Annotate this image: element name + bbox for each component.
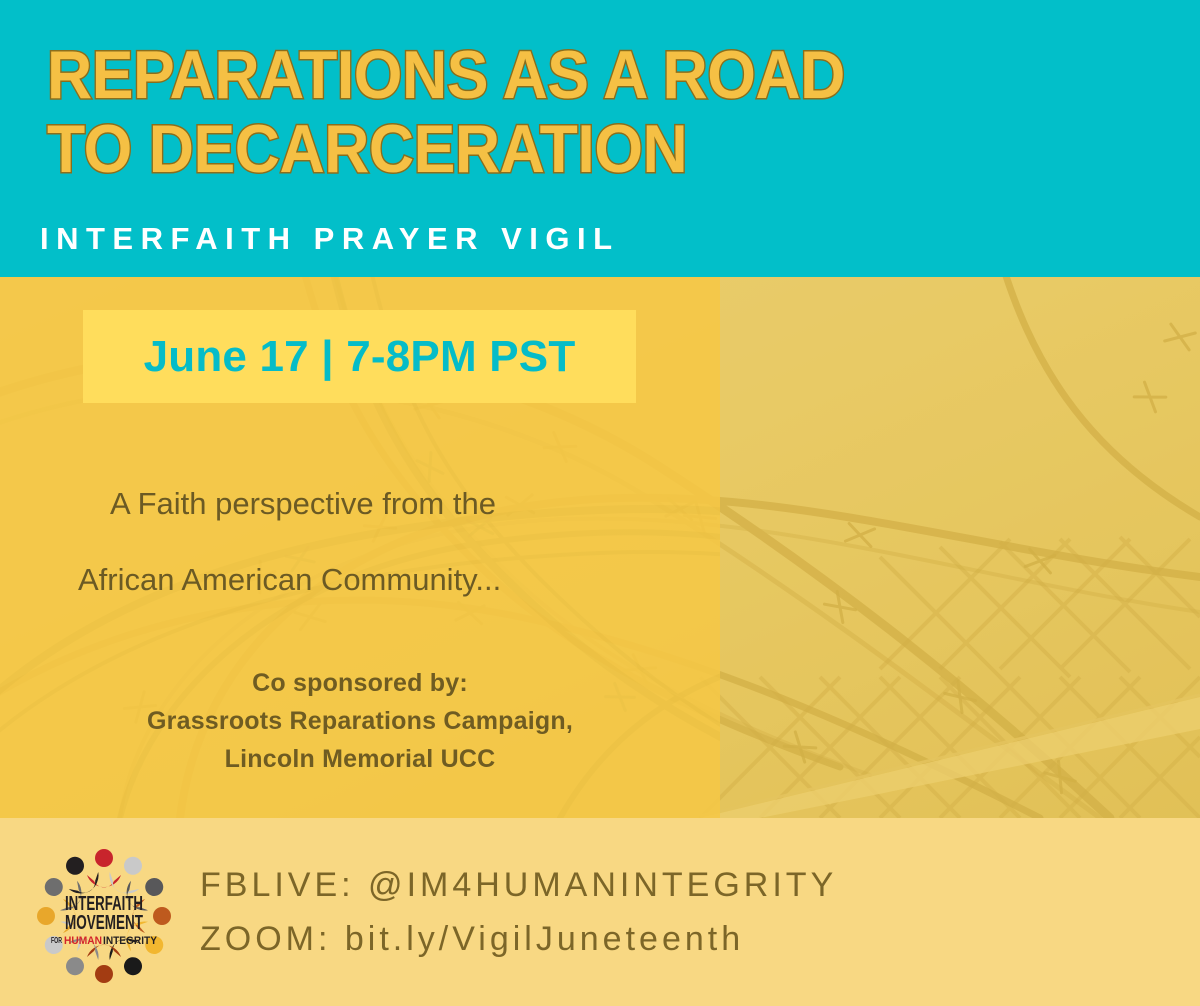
description-line-1: A Faith perspective from the [110,466,710,542]
svg-text:MOVEMENT: MOVEMENT [65,912,143,934]
zoom-link[interactable]: ZOOM: bit.ly/VigilJuneteenth [200,912,837,966]
svg-text:HUMAN: HUMAN [64,935,102,947]
interfaith-movement-logo: INTERFAITH MOVEMENT FOR HUMAN INTEGRITY [24,836,184,996]
svg-text:FOR: FOR [51,936,62,945]
date-time-text: June 17 | 7-8PM PST [144,332,576,382]
description-line-2: African American Community... [78,542,710,618]
page-title: Reparations as a Road to Decarceration [47,38,967,186]
description-block: A Faith perspective from the African Ame… [110,466,710,618]
fblive-link[interactable]: FBLIVE: @IM4HUMANINTEGRITY [200,858,837,912]
page-subtitle: Interfaith Prayer Vigil [40,221,620,257]
event-flyer: Reparations as a Road to Decarceration I… [0,0,1200,1006]
cosponsor-org-1: Grassroots Reparations Campaign, [0,702,720,740]
contact-links-block: FBLIVE: @IM4HUMANINTEGRITY ZOOM: bit.ly/… [200,858,837,966]
cosponsor-block: Co sponsored by: Grassroots Reparations … [0,664,720,778]
cosponsor-org-2: Lincoln Memorial UCC [0,740,720,778]
date-time-banner: June 17 | 7-8PM PST [83,310,636,403]
cosponsor-heading: Co sponsored by: [0,664,720,702]
header-banner: Reparations as a Road to Decarceration I… [0,0,1200,277]
svg-text:INTEGRITY: INTEGRITY [103,935,158,947]
